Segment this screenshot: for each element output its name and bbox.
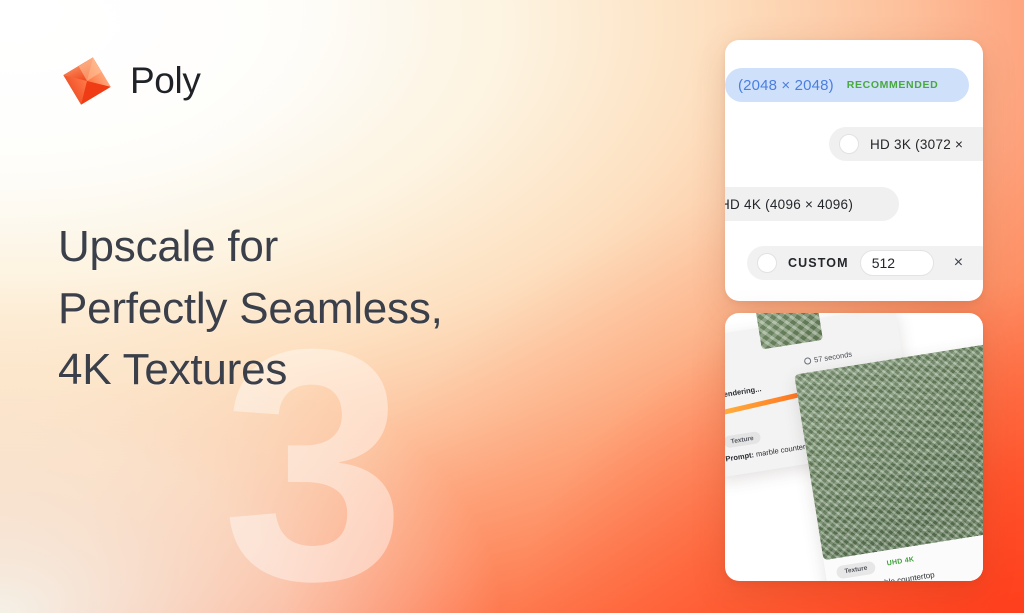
texture-tag-badge: Texture [836,560,877,579]
poly-gem-logo-icon [58,52,116,110]
dimension-separator-icon: × [954,254,963,272]
brand-logo: Poly [58,52,201,110]
headline-line-2: Perfectly Seamless, [58,278,443,340]
resolution-option-label: HD 4K (4096 × 4096) [725,197,853,212]
generated-texture-image [794,342,983,560]
headline-line-3: 4K Textures [58,339,443,401]
resolution-option-hd3k[interactable]: HD 3K (3072 × [829,127,983,161]
resolution-option-label: CUSTOM [788,256,849,270]
promo-slide: 3 [0,0,1024,613]
radio-icon[interactable] [839,134,859,154]
preview-clip: 57 seconds Rendering... Texture Prompt: … [725,313,983,581]
quality-badge: UHD 4K [886,556,915,567]
resolution-options-card: (2048 × 2048) RECOMMENDED HD 3K (3072 × … [725,40,983,301]
recommended-badge: RECOMMENDED [847,79,939,91]
texture-tag-badge: Texture [725,431,761,449]
headline-line-1: Upscale for [58,216,443,278]
resolution-option-label: (2048 × 2048) [738,77,834,94]
prompt-value: marble countertop [870,570,935,581]
brand-name: Poly [130,60,201,102]
elapsed-time-label: 57 seconds [813,350,852,365]
render-preview-card: 57 seconds Rendering... Texture Prompt: … [725,313,983,581]
custom-width-input[interactable]: 512 [860,250,934,276]
clock-icon [804,357,812,365]
rendering-status-label: Rendering... [725,384,762,400]
page-title: Upscale for Perfectly Seamless, 4K Textu… [58,216,443,401]
prompt-key: Prompt: [725,450,755,463]
result-panel: Texture UHD 4K Prompt: marble countertop [794,342,983,581]
resolution-option-hd4k[interactable]: HD 4K (4096 × 4096) [725,187,899,221]
resolution-option-2048[interactable]: (2048 × 2048) RECOMMENDED [725,68,969,102]
resolution-option-label: HD 3K (3072 × [870,137,963,152]
resolution-option-custom[interactable]: CUSTOM 512 × [747,246,983,280]
elapsed-time: 57 seconds [804,350,853,366]
texture-thumbnail [755,313,823,350]
radio-icon[interactable] [757,253,777,273]
